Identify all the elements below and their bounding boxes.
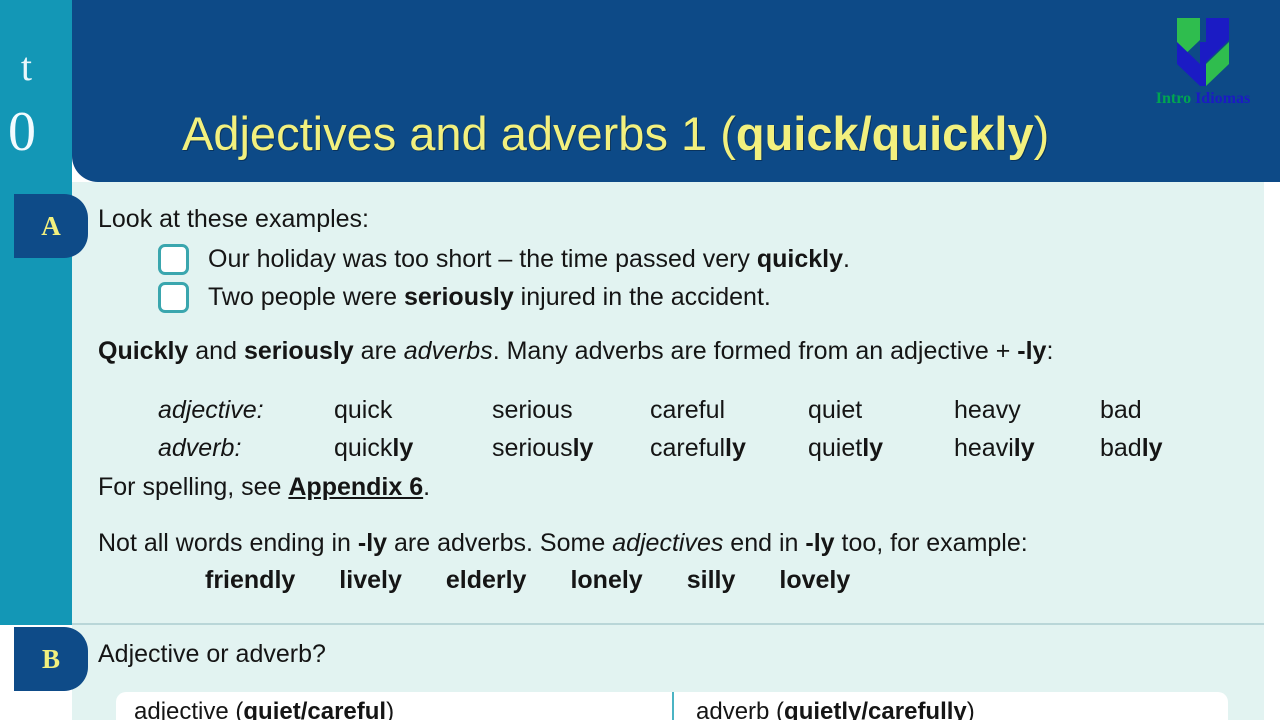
rule-text: . Many adverbs are formed from an adject…: [493, 337, 1018, 365]
notall-text: Not all words ending in: [98, 529, 358, 557]
adverb-stem: quiet: [808, 434, 862, 462]
not-all-ly-text: Not all words ending in -ly are adverbs.…: [98, 529, 1028, 558]
ly-adjective-4: silly: [687, 566, 736, 595]
example-text: Our holiday was too short – the time pas…: [208, 245, 850, 274]
unit-rail: t 0: [0, 0, 72, 625]
logo-text-primary: Intro: [1156, 90, 1191, 107]
grid-cell-adjective-0: quick: [334, 396, 492, 434]
book-shield-icon: [1171, 14, 1235, 88]
grid-label-adverb: adverb:: [158, 434, 334, 472]
b-right-bold: quietly/carefully: [784, 698, 967, 720]
section-b-column-divider: [672, 692, 674, 720]
adverb-suffix: ly: [1142, 434, 1163, 462]
ly-adjective-1: lively: [339, 566, 402, 595]
grid-cell-adverb-2: carefully: [650, 434, 808, 472]
example-pre: Our holiday was too short – the time pas…: [208, 245, 757, 273]
rule-italic-adverbs: adverbs: [404, 337, 493, 365]
rule-bold-quickly: Quickly: [98, 337, 188, 365]
ly-adjective-3: lonely: [570, 566, 642, 595]
example-bold: quickly: [757, 245, 843, 273]
grid-cell-adverb-4: heavily: [954, 434, 1100, 472]
adverb-stem: serious: [492, 434, 573, 462]
notall-text: are adverbs. Some: [387, 529, 612, 557]
rule-text: :: [1046, 337, 1053, 365]
notall-italic-adjectives: adjectives: [612, 529, 723, 557]
grid-cell-adjective-1: serious: [492, 396, 650, 434]
adverb-suffix: ly: [862, 434, 883, 462]
ly-adjective-2: elderly: [446, 566, 527, 595]
grid-cell-adjective-4: heavy: [954, 396, 1100, 434]
unit-rail-number: 0: [0, 103, 72, 161]
notall-text: too, for example:: [835, 529, 1028, 557]
example-item: Our holiday was too short – the time pas…: [158, 244, 850, 275]
rule-text: and: [188, 337, 244, 365]
section-divider: [72, 623, 1264, 625]
example-post: injured in the accident.: [514, 283, 771, 311]
appendix-pre: For spelling, see: [98, 473, 288, 501]
rule-bold-ly: -ly: [1017, 337, 1046, 365]
adverb-suffix: ly: [1014, 434, 1035, 462]
page-title: Adjectives and adverbs 1 (quick/quickly): [182, 106, 1049, 162]
rule-text: are: [354, 337, 404, 365]
logo-text-secondary: Idiomas: [1195, 90, 1250, 107]
b-left-pre: adjective (: [134, 698, 243, 720]
adverb-suffix: ly: [573, 434, 594, 462]
grid-cell-adjective-3: quiet: [808, 396, 954, 434]
adjective-adverb-grid: adjective: quick serious careful quiet h…: [158, 396, 1246, 472]
section-b-column-left: adjective (quiet/careful): [134, 698, 394, 720]
section-b-card: adjective (quiet/careful) adverb (quietl…: [116, 692, 1228, 720]
grid-cell-adverb-1: seriously: [492, 434, 650, 472]
b-left-bold: quiet/careful: [243, 698, 386, 720]
ly-adjective-5: lovely: [779, 566, 850, 595]
bullet-box-icon: [158, 282, 189, 313]
b-right-post: ): [967, 698, 975, 720]
notall-text: end in: [723, 529, 805, 557]
appendix-post: .: [423, 473, 430, 501]
grid-row-adverb: adverb: quickly seriously carefully quie…: [158, 434, 1246, 472]
logo: Intro Idiomas: [1140, 14, 1266, 118]
page-title-plain: Adjectives and adverbs 1 (: [182, 107, 736, 160]
rule-bold-seriously: seriously: [244, 337, 354, 365]
grid-label-adjective: adjective:: [158, 396, 334, 434]
page-title-end: ): [1034, 107, 1050, 160]
section-b-column-right: adverb (quietly/carefully): [696, 698, 975, 720]
header-banner: Adjectives and adverbs 1 (quick/quickly)…: [72, 0, 1280, 182]
adverb-suffix: ly: [392, 434, 413, 462]
grid-cell-adverb-3: quietly: [808, 434, 954, 472]
page-title-bold: quick/quickly: [736, 107, 1034, 160]
section-badge-a: A: [14, 194, 88, 258]
grid-cell-adjective-5: bad: [1100, 396, 1246, 434]
example-bold: seriously: [404, 283, 514, 311]
grid-cell-adjective-2: careful: [650, 396, 808, 434]
example-post: .: [843, 245, 850, 273]
b-right-pre: adverb (: [696, 698, 784, 720]
example-item: Two people were seriously injured in the…: [158, 282, 771, 313]
adverb-stem: quick: [334, 434, 392, 462]
adverb-stem: bad: [1100, 434, 1142, 462]
example-pre: Two people were: [208, 283, 404, 311]
section-a-intro: Look at these examples:: [98, 205, 369, 234]
appendix-link[interactable]: Appendix 6: [288, 473, 423, 501]
grid-cell-adverb-0: quickly: [334, 434, 492, 472]
ly-adjective-0: friendly: [205, 566, 295, 595]
adverb-suffix: ly: [725, 434, 746, 462]
section-badge-b: B: [14, 627, 88, 691]
b-left-post: ): [386, 698, 394, 720]
adverb-rule-text: Quickly and seriously are adverbs. Many …: [98, 337, 1053, 366]
adverb-stem: heavi: [954, 434, 1014, 462]
example-text: Two people were seriously injured in the…: [208, 283, 771, 312]
appendix-reference: For spelling, see Appendix 6.: [98, 473, 430, 502]
grid-row-adjective: adjective: quick serious careful quiet h…: [158, 396, 1246, 434]
notall-bold-ly: -ly: [805, 529, 834, 557]
notall-bold-ly: -ly: [358, 529, 387, 557]
ly-adjectives-list: friendlylivelyelderlylonelysillylovely: [205, 566, 850, 595]
logo-text: Intro Idiomas: [1140, 90, 1266, 108]
section-b-question: Adjective or adverb?: [98, 640, 326, 669]
grid-cell-adverb-5: badly: [1100, 434, 1246, 472]
adverb-stem: careful: [650, 434, 725, 462]
unit-rail-label: t: [0, 45, 72, 89]
bullet-box-icon: [158, 244, 189, 275]
